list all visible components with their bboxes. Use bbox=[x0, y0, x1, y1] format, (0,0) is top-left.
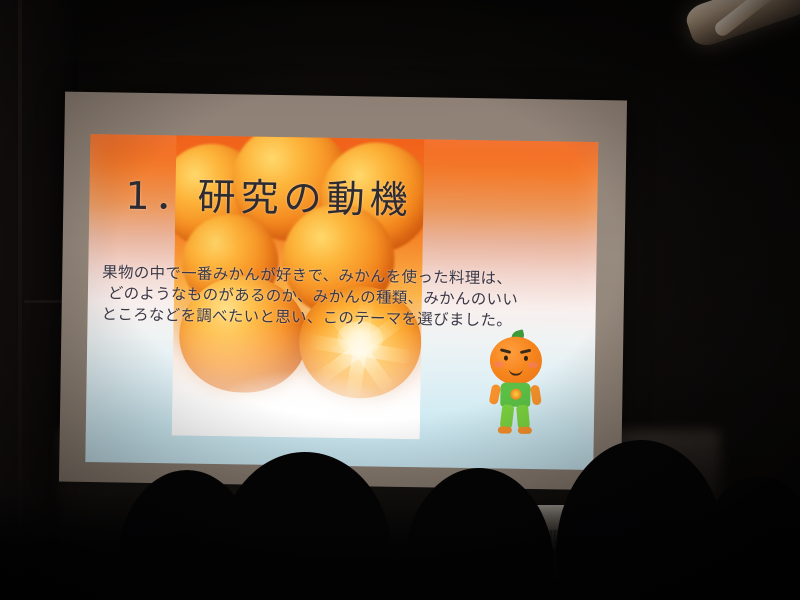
mascot-blush-right bbox=[528, 362, 538, 368]
classroom-projection-scene: 1．研究の動機 果物の中で一番みかんが好きで、みかんを使った料理は、 どのような… bbox=[0, 0, 800, 600]
mascot-leg-right bbox=[516, 404, 530, 429]
foreground-shadow-gradient bbox=[0, 490, 800, 600]
mascot-shoe-left bbox=[498, 426, 512, 433]
mascot-leg-left bbox=[500, 404, 515, 429]
mascot-badge-icon bbox=[510, 389, 521, 400]
slide-body-text: 果物の中で一番みかんが好きで、みかんを使った料理は、 どのようなものがあるのか、… bbox=[101, 262, 594, 333]
projection-screen: 1．研究の動機 果物の中で一番みかんが好きで、みかんを使った料理は、 どのような… bbox=[59, 92, 627, 491]
mascot-eye-right bbox=[524, 356, 528, 361]
mascot-arm-right bbox=[530, 384, 542, 405]
mascot-shoe-right bbox=[518, 427, 532, 434]
mascot-blush-left bbox=[494, 361, 504, 367]
mikan-mascot-character bbox=[484, 330, 548, 437]
mascot-eye-left bbox=[504, 356, 508, 361]
presentation-slide: 1．研究の動機 果物の中で一番みかんが好きで、みかんを使った料理は、 どのような… bbox=[85, 134, 598, 470]
slide-title: 1．研究の動機 bbox=[125, 165, 556, 227]
